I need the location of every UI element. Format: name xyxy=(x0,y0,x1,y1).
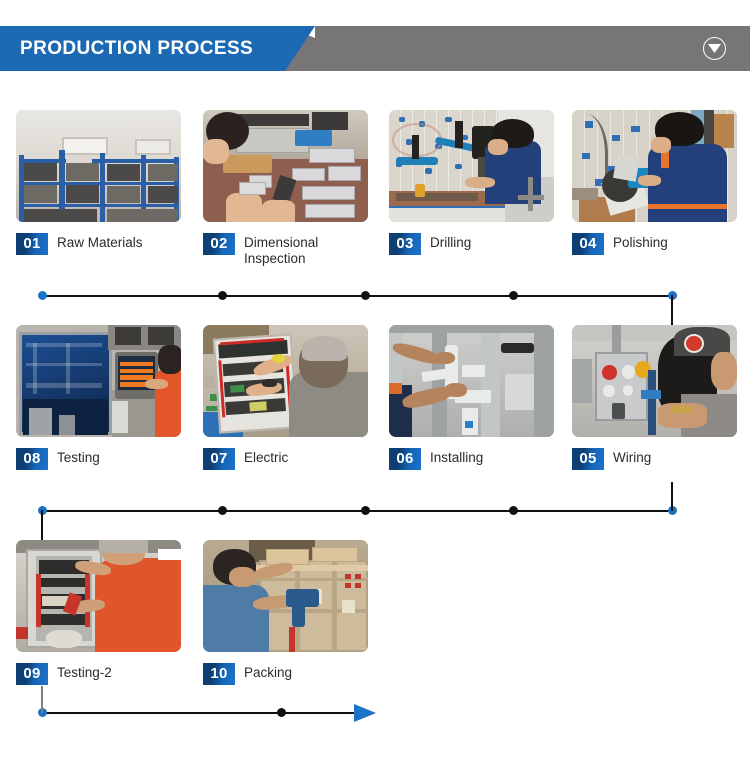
connector-row1-to-row2 xyxy=(0,283,750,323)
step-photo-polishing xyxy=(572,110,737,222)
step-photo-testing-2 xyxy=(16,540,181,652)
connector-dot xyxy=(361,291,370,300)
step-number-badge: 10 xyxy=(203,663,235,685)
connector-row2-to-row3 xyxy=(0,498,750,538)
process-step-05[interactable]: 05 Wiring xyxy=(572,325,737,470)
arrow-head-icon xyxy=(354,704,376,722)
process-step-10[interactable]: 10 Packing xyxy=(203,540,368,685)
step-photo-packing xyxy=(203,540,368,652)
step-number-badge: 06 xyxy=(389,448,421,470)
process-step-04[interactable]: 04 Polishing xyxy=(572,110,737,255)
step-caption: 05 Wiring xyxy=(572,448,737,470)
step-label: Wiring xyxy=(613,448,651,466)
step-number-badge: 08 xyxy=(16,448,48,470)
connector-dot-start xyxy=(38,291,47,300)
step-label: Raw Materials xyxy=(57,233,143,251)
step-caption: 08 Testing xyxy=(16,448,181,470)
process-step-09[interactable]: 09 Testing-2 xyxy=(16,540,181,685)
connector-dot xyxy=(509,506,518,515)
step-label: Testing-2 xyxy=(57,663,112,681)
step-caption: 06 Installing xyxy=(389,448,554,470)
step-label: Drilling xyxy=(430,233,471,251)
step-number-badge: 04 xyxy=(572,233,604,255)
step-caption: 07 Electric xyxy=(203,448,368,470)
page-header: PRODUCTION PROCESS xyxy=(0,26,750,71)
step-label: Installing xyxy=(430,448,483,466)
step-number-badge: 09 xyxy=(16,663,48,685)
process-step-08[interactable]: 08 Testing xyxy=(16,325,181,470)
step-caption: 04 Polishing xyxy=(572,233,737,255)
step-photo-testing xyxy=(16,325,181,437)
connector-dot xyxy=(277,708,286,717)
page-title: PRODUCTION PROCESS xyxy=(20,26,253,71)
connector-dot xyxy=(361,506,370,515)
step-caption: 10 Packing xyxy=(203,663,368,685)
connector-dot xyxy=(509,291,518,300)
step-photo-electric xyxy=(203,325,368,437)
header-grey-band xyxy=(285,26,750,71)
step-photo-dimensional-inspection xyxy=(203,110,368,222)
connector-dot xyxy=(218,291,227,300)
connector-dot xyxy=(218,506,227,515)
step-label: Packing xyxy=(244,663,292,681)
process-step-02[interactable]: 02 Dimensional Inspection xyxy=(203,110,368,267)
step-number-badge: 02 xyxy=(203,233,235,255)
step-number-badge: 03 xyxy=(389,233,421,255)
step-number-badge: 07 xyxy=(203,448,235,470)
step-caption: 03 Drilling xyxy=(389,233,554,255)
step-label: Dimensional Inspection xyxy=(244,233,318,267)
step-caption: 09 Testing-2 xyxy=(16,663,181,685)
step-photo-wiring xyxy=(572,325,737,437)
step-photo-raw-materials xyxy=(16,110,181,222)
process-step-03[interactable]: 03 Drilling xyxy=(389,110,554,255)
step-caption: 01 Raw Materials xyxy=(16,233,181,255)
step-photo-drilling xyxy=(389,110,554,222)
step-number-badge: 05 xyxy=(572,448,604,470)
step-photo-installing xyxy=(389,325,554,437)
process-step-06[interactable]: 06 Installing xyxy=(389,325,554,470)
process-step-01[interactable]: 01 Raw Materials xyxy=(16,110,181,255)
process-step-07[interactable]: 07 Electric xyxy=(203,325,368,470)
step-label: Electric xyxy=(244,448,288,466)
step-label: Testing xyxy=(57,448,100,466)
step-label: Polishing xyxy=(613,233,668,251)
chevron-down-icon[interactable] xyxy=(703,37,726,60)
connector-end-arrow xyxy=(0,700,750,740)
step-caption: 02 Dimensional Inspection xyxy=(203,233,368,267)
step-number-badge: 01 xyxy=(16,233,48,255)
